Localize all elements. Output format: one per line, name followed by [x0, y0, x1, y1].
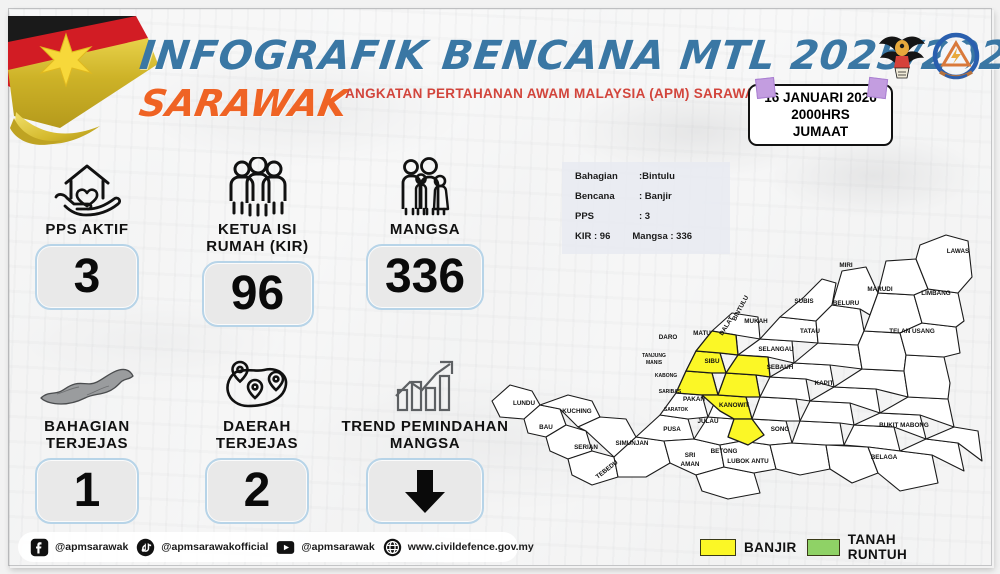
info-row: Bahagian :Bintulu	[575, 171, 719, 182]
people-group-icon	[180, 155, 335, 217]
legend-label: TANAH RUNTUH	[848, 532, 950, 562]
svg-text:DARO: DARO	[659, 334, 678, 341]
social-tiktok[interactable]: @apmsarawakofficial	[136, 538, 268, 557]
date-value: 16 JANUARI 2026	[764, 90, 877, 106]
stat-pps-aktif: PPS AKTIF 3	[22, 155, 152, 310]
social-handle: @apmsarawakofficial	[161, 541, 268, 553]
sarawak-state-crest-logo	[876, 30, 928, 84]
stat-label: DAERAH TERJEJAS	[182, 419, 332, 452]
svg-text:TATAU: TATAU	[800, 328, 820, 335]
svg-text:PUSA: PUSA	[663, 426, 681, 433]
tape-right-icon	[867, 77, 888, 99]
stat-mangsa: MANGSA 336	[355, 155, 495, 310]
legend-item-tanah-runtuh: TANAH RUNTUH	[807, 532, 950, 562]
svg-text:BUKIT MABONG: BUKIT MABONG	[879, 422, 929, 429]
svg-text:SUBIS: SUBIS	[794, 298, 813, 305]
stat-value-chip: 336	[366, 244, 484, 310]
sarawak-map-icon	[22, 352, 152, 414]
svg-text:AMAN: AMAN	[681, 461, 700, 468]
social-handle: www.civildefence.gov.my	[408, 541, 534, 553]
svg-text:MATU: MATU	[693, 330, 711, 337]
svg-text:JULAU: JULAU	[698, 418, 719, 425]
arrow-down-icon	[397, 466, 453, 516]
svg-text:KUCHING: KUCHING	[562, 408, 591, 415]
stat-label: MANGSA	[355, 222, 495, 238]
stat-ketua-isi-rumah: KETUA ISI RUMAH (KIR) 96	[180, 155, 335, 327]
svg-text:BELAGA: BELAGA	[871, 454, 898, 461]
svg-text:SARIBAS: SARIBAS	[659, 389, 682, 395]
location-pins-icon	[182, 352, 332, 414]
day-value: JUMAAT	[793, 124, 848, 140]
svg-text:SIMUNJAN: SIMUNJAN	[616, 440, 649, 447]
stat-value: 2	[244, 467, 271, 515]
footer-social-bar: @apmsarawak @apmsarawakofficial @apmsara…	[18, 532, 518, 562]
svg-text:BAU: BAU	[539, 424, 553, 431]
svg-text:PAKAN: PAKAN	[683, 396, 705, 403]
stat-value-chip: 1	[35, 458, 139, 524]
info-key: Bencana	[575, 191, 639, 202]
time-value: 2000HRS	[791, 107, 850, 123]
legend-swatch-tanah-runtuh	[807, 539, 840, 556]
page-title: INFOGRAFIK BENCANA MTL 2025/2026	[137, 33, 1000, 79]
info-row: Bencana : Banjir	[575, 191, 719, 202]
svg-text:SRI: SRI	[685, 452, 696, 459]
stat-label: PPS AKTIF	[22, 222, 152, 238]
tiktok-icon	[136, 538, 155, 557]
stat-daerah-terjejas: DAERAH TERJEJAS 2	[182, 352, 332, 524]
stat-label: BAHAGIAN TERJEJAS	[22, 419, 152, 452]
svg-text:SERIAN: SERIAN	[574, 444, 598, 451]
svg-text:SEBAUH: SEBAUH	[767, 364, 794, 371]
svg-text:LUBOK ANTU: LUBOK ANTU	[727, 458, 769, 465]
svg-text:KABONG: KABONG	[655, 373, 677, 379]
youtube-icon	[276, 538, 295, 557]
info-value: : Banjir	[639, 191, 672, 202]
svg-text:MUKAH: MUKAH	[744, 318, 768, 325]
svg-text:LUNDU: LUNDU	[513, 400, 535, 407]
family-icon	[355, 155, 495, 217]
stat-value-chip: 2	[205, 458, 309, 524]
svg-text:KAPIT: KAPIT	[815, 380, 834, 387]
stat-value: 336	[385, 253, 465, 301]
svg-text:BETONG: BETONG	[711, 448, 738, 455]
globe-icon	[383, 538, 402, 557]
stat-bahagian-terjejas: BAHAGIAN TERJEJAS 1	[22, 352, 152, 524]
house-heart-hand-icon	[22, 155, 152, 217]
social-youtube[interactable]: @apmsarawak	[276, 538, 374, 557]
svg-text:MANIS: MANIS	[646, 360, 663, 366]
social-handle: @apmsarawak	[55, 541, 128, 553]
svg-text:KANOWIT: KANOWIT	[719, 402, 749, 409]
svg-text:TELAN USANG: TELAN USANG	[889, 328, 935, 335]
svg-text:MARUDI: MARUDI	[867, 286, 892, 293]
stat-value-chip: 96	[202, 261, 314, 327]
apm-civil-defence-logo	[930, 30, 982, 84]
svg-text:SIBU: SIBU	[704, 358, 719, 365]
svg-text:TANJUNG: TANJUNG	[642, 353, 666, 359]
sarawak-flag	[8, 8, 158, 150]
info-value: :Bintulu	[639, 171, 675, 182]
state-title: SARAWAK	[136, 82, 351, 125]
subtitle: ANGKATAN PERTAHANAN AWAM MALAYSIA (APM) …	[345, 86, 765, 101]
map-legend: BANJIR TANAH RUNTUH	[700, 534, 950, 560]
stat-value: 96	[231, 270, 284, 318]
svg-text:SONG: SONG	[771, 426, 790, 433]
info-key: Bahagian	[575, 171, 639, 182]
stat-trend-chip	[366, 458, 484, 524]
stat-label: KETUA ISI RUMAH (KIR)	[180, 222, 335, 255]
stat-value: 1	[74, 467, 101, 515]
legend-swatch-banjir	[700, 539, 736, 556]
social-website[interactable]: www.civildefence.gov.my	[383, 538, 534, 557]
legend-label: BANJIR	[744, 540, 797, 555]
stat-value-chip: 3	[35, 244, 139, 310]
infographic-canvas: INFOGRAFIK BENCANA MTL 2025/2026 SARAWAK…	[0, 0, 1000, 574]
social-facebook[interactable]: @apmsarawak	[30, 538, 128, 557]
svg-text:BELURU: BELURU	[833, 300, 860, 307]
svg-text:LIMBANG: LIMBANG	[921, 290, 950, 297]
svg-text:LAWAS: LAWAS	[947, 248, 969, 255]
social-handle: @apmsarawak	[301, 541, 374, 553]
stat-value: 3	[74, 253, 101, 301]
legend-item-banjir: BANJIR	[700, 539, 797, 556]
facebook-icon	[30, 538, 49, 557]
svg-text:SELANGAU: SELANGAU	[758, 346, 794, 353]
svg-text:MIRI: MIRI	[839, 262, 853, 269]
svg-text:SARATOK: SARATOK	[664, 407, 689, 413]
sarawak-district-map: LUNDU BAU KUCHING SERIAN TEBEDU SIMUNJAN…	[480, 205, 992, 525]
tape-left-icon	[755, 77, 776, 99]
